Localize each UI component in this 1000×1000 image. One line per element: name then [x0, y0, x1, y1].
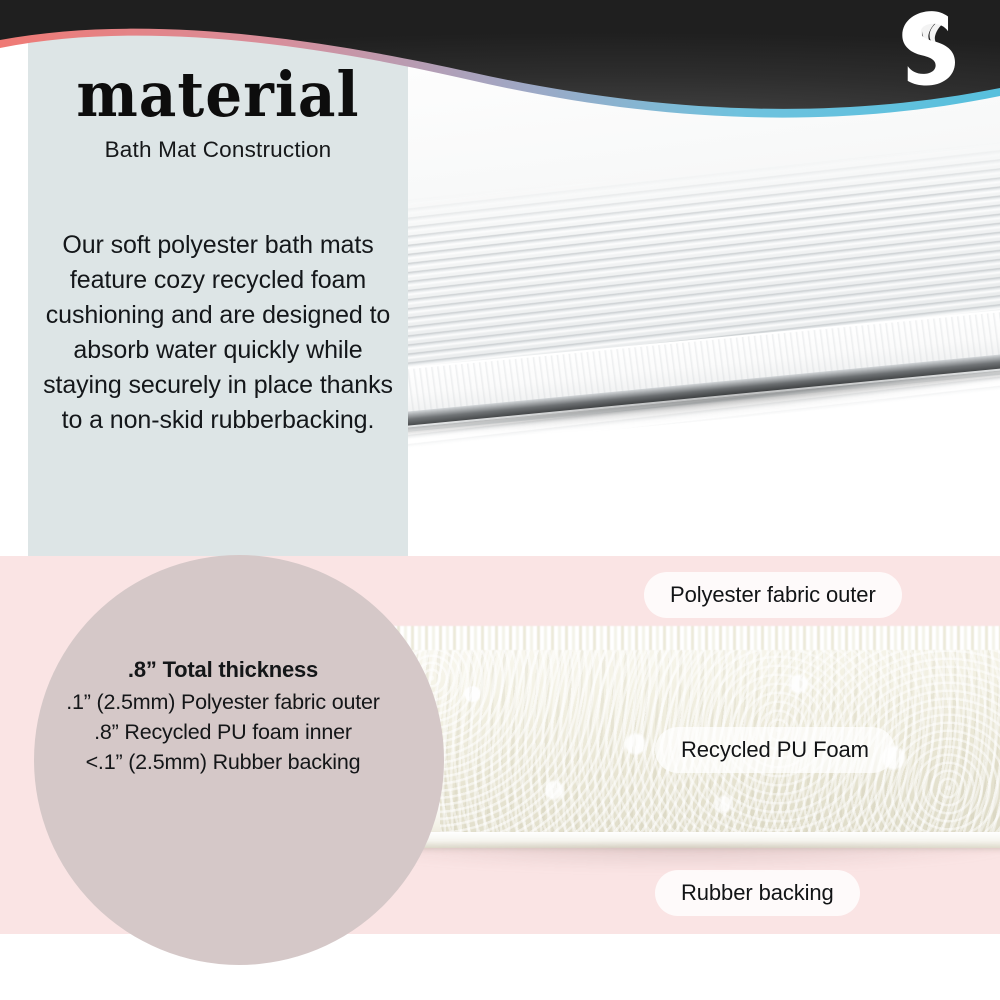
spec-layer-foam: .8” Recycled PU foam inner: [34, 717, 412, 747]
page-subtitle: Bath Mat Construction: [28, 137, 408, 163]
spec-layer-outer: .1” (2.5mm) Polyester fabric outer: [34, 687, 412, 717]
callout-rubber-backing: Rubber backing: [655, 870, 860, 916]
spec-layer-backing: <.1” (2.5mm) Rubber backing: [34, 747, 412, 777]
description-paragraph: Our soft polyester bath mats feature coz…: [34, 228, 402, 438]
title-block: material Bath Mat Construction: [28, 66, 408, 163]
infographic-canvas: material Bath Mat Construction Our soft …: [0, 0, 1000, 1000]
callout-recycled-pu-foam: Recycled PU Foam: [655, 727, 895, 773]
swan-s-monogram-icon[interactable]: [902, 11, 955, 85]
thickness-spec-block: .8” Total thickness .1” (2.5mm) Polyeste…: [34, 655, 412, 777]
callout-polyester-fabric-outer: Polyester fabric outer: [644, 572, 902, 618]
foam-top-fabric: [344, 626, 1000, 650]
page-title: material: [20, 66, 415, 125]
foam-drop-shadow: [330, 846, 1000, 872]
spec-total-thickness: .8” Total thickness: [34, 655, 412, 685]
